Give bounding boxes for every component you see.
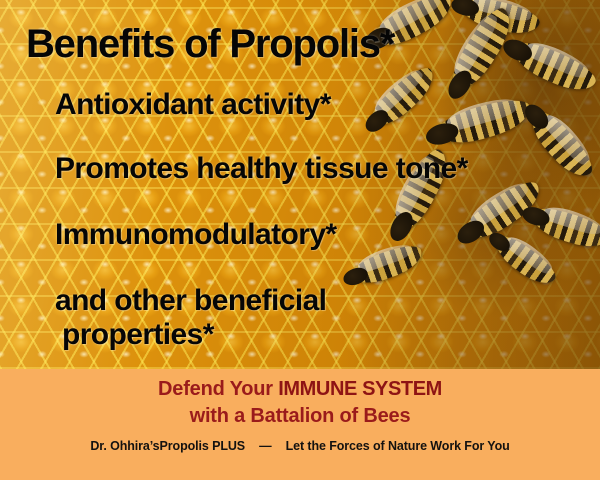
footer-separator-dash: —: [259, 439, 272, 453]
brand-prefix: Dr. Ohhira’s: [90, 439, 159, 453]
banner-headline-line-2: with a Battalion of Bees: [0, 405, 600, 428]
benefit-item-1: Antioxidant activity*: [55, 88, 331, 122]
benefits-text-block: Benefits of Propolis* Antioxidant activi…: [0, 0, 600, 369]
banner-headline-line-1: Defend Your IMMUNE SYSTEM: [0, 378, 600, 401]
banner-footer: Dr. Ohhira’s Propolis PLUS — Let the For…: [0, 439, 600, 453]
benefit-item-4-line-1: and other beneficial: [55, 284, 326, 318]
benefit-item-3: Immunomodulatory*: [55, 218, 336, 252]
bottom-banner: Defend Your IMMUNE SYSTEM with a Battali…: [0, 369, 600, 480]
banner-headline-prefix: Defend Your: [158, 378, 278, 400]
brand-product-name: Propolis PLUS: [160, 439, 246, 453]
benefit-item-2: Promotes healthy tissue tone*: [55, 152, 468, 186]
benefit-item-4-line-2: properties*: [62, 318, 214, 352]
page-title: Benefits of Propolis*: [26, 22, 394, 67]
propolis-benefits-poster: Benefits of Propolis* Antioxidant activi…: [0, 0, 600, 480]
footer-tagline: Let the Forces of Nature Work For You: [286, 439, 510, 453]
banner-headline-emphasis: IMMUNE SYSTEM: [278, 378, 442, 400]
